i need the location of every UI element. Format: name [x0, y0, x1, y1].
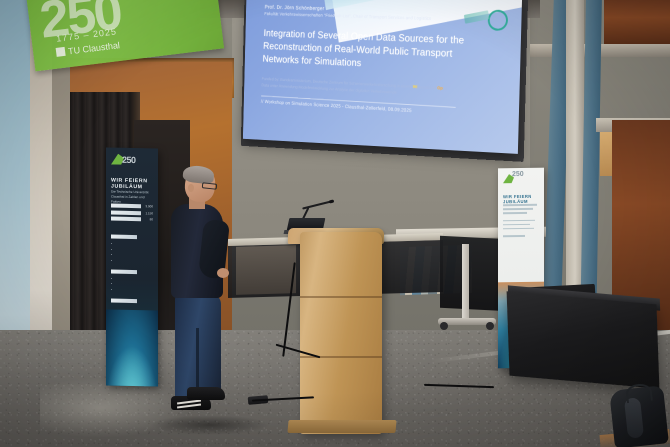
- tu-logo-mark: [56, 47, 66, 57]
- list-heading-bar: [111, 235, 137, 240]
- rollup-banner-left: 250 WIR FEIERN JUBILÄUM Die Technische U…: [106, 147, 158, 386]
- back-table-skirt: [236, 245, 296, 295]
- speaker-standing: [165, 168, 237, 432]
- speaker-ear: [188, 184, 194, 192]
- text-line: [503, 204, 537, 206]
- projection-screen[interactable]: Prof. Dr. Jörn Schönberger Fakultät Verk…: [243, 0, 522, 154]
- rollup-right-logo-number: 250: [512, 171, 524, 178]
- caster-wheel-right: [486, 322, 494, 330]
- slide-content: Prof. Dr. Jörn Schönberger Fakultät Verk…: [261, 4, 513, 120]
- list-item: •: [111, 288, 153, 295]
- text-line: [503, 235, 525, 237]
- monitor-stand-column: [462, 244, 469, 322]
- stat-value: 80: [150, 218, 153, 222]
- stat-bar: 3.000: [111, 204, 141, 209]
- stat-bar: 1.150: [111, 210, 141, 215]
- rollup-left-logo: 250: [111, 154, 137, 167]
- rollup-left-subline: Die Technische Universität Clausthal in …: [111, 190, 153, 205]
- rollup-left-headline: WIR FEIERN JUBILÄUM: [111, 178, 158, 191]
- rollup-left-stats: 3.000 1.150 80: [111, 204, 153, 225]
- list-heading-bar: [111, 269, 137, 274]
- draped-table: [507, 291, 660, 388]
- stat-value: 1.150: [145, 211, 153, 215]
- rollup-right-text-lines: [503, 204, 539, 240]
- rollup-left-logo-number: 250: [122, 155, 136, 165]
- rollup-right-headline: WIR FEIERN JUBILÄUM: [503, 194, 544, 205]
- text-line: [503, 212, 527, 214]
- stat-bar: 80: [111, 217, 141, 222]
- rollup-left-wave-graphic: [106, 309, 158, 386]
- list-item: •: [111, 259, 153, 266]
- wood-door-upper: [604, 0, 670, 44]
- stat-value: 3.000: [145, 204, 153, 208]
- backpack-handle: [625, 383, 653, 404]
- list-heading-bar: [111, 298, 137, 303]
- lectern-panel-seam: [300, 296, 382, 298]
- speaker-hand: [217, 268, 229, 278]
- text-line: [503, 219, 535, 221]
- rollup-left-bullet-list: • • • • • • •: [111, 230, 153, 307]
- slide-title-line-3: Networks for Simulations: [262, 54, 361, 69]
- text-line: [503, 227, 534, 229]
- slide-title: Integration of Several Open Data Sources…: [262, 28, 466, 75]
- funding-mid: ssenschaft: [417, 85, 437, 91]
- photo-scene: 250 1775 – 2025 TU Clausthal Prof. Dr. J…: [0, 0, 670, 447]
- lectern-base-foot: [287, 420, 396, 433]
- speaker-shoe-right: [187, 387, 225, 400]
- text-line: [503, 223, 530, 225]
- caster-wheel-left: [440, 322, 448, 330]
- wooden-lectern: [300, 232, 382, 434]
- text-line: [503, 208, 533, 210]
